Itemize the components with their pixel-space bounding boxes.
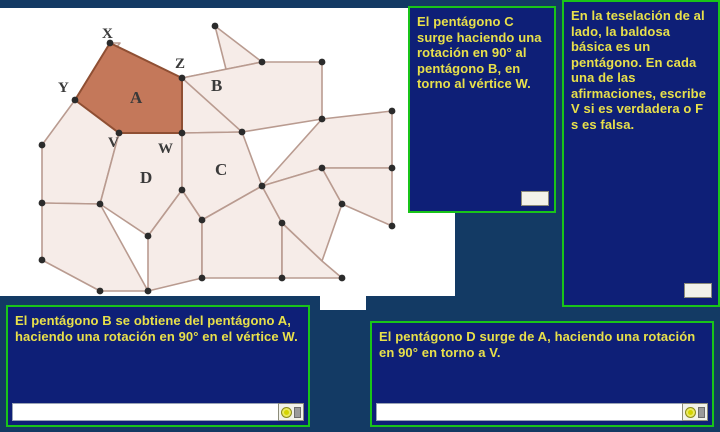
pentagon-tessellation-figure: A B C D X Y Z V W	[10, 8, 430, 298]
label-vertex-y: Y	[58, 80, 69, 97]
answer-input-b[interactable]	[12, 403, 278, 421]
intro-box: En la teselación de al lado, la baldosa …	[562, 0, 720, 307]
label-vertex-w: W	[158, 141, 173, 158]
lesson-screen: A B C D X Y Z V W El pentágono C surge h…	[0, 0, 720, 432]
bar-icon	[294, 407, 301, 418]
label-pentagon-d: D	[140, 168, 152, 188]
intro-text: En la teselación de al lado, la baldosa …	[571, 8, 711, 132]
label-pentagon-a: A	[130, 88, 142, 108]
statement-b-text: El pentágono B se obtiene del pentágono …	[15, 313, 301, 344]
label-vertex-v: V	[108, 135, 119, 152]
check-answer-button-d[interactable]	[682, 403, 708, 421]
white-notch	[320, 296, 366, 310]
statement-d-text: El pentágono D surge de A, haciendo una …	[379, 329, 705, 360]
statement-c-text: El pentágono C surge haciendo una rotaci…	[417, 14, 547, 92]
label-pentagon-b: B	[211, 76, 222, 96]
check-answer-button-intro[interactable]	[684, 283, 712, 298]
speaker-check-icon	[685, 407, 696, 418]
bottom-middle-background-panel	[318, 296, 368, 432]
speaker-check-icon	[281, 407, 292, 418]
answer-row-d	[376, 403, 708, 421]
label-vertex-x: X	[102, 26, 113, 43]
check-answer-button-c[interactable]	[521, 191, 549, 206]
statement-box-c: El pentágono C surge haciendo una rotaci…	[408, 6, 556, 213]
statement-box-d: El pentágono D surge de A, haciendo una …	[370, 321, 714, 427]
label-pentagon-c: C	[215, 160, 227, 180]
bar-icon	[698, 407, 705, 418]
label-vertex-z: Z	[175, 56, 185, 73]
statement-box-b: El pentágono B se obtiene del pentágono …	[6, 305, 310, 427]
answer-row-b	[12, 403, 304, 421]
answer-input-d[interactable]	[376, 403, 682, 421]
check-answer-button-b[interactable]	[278, 403, 304, 421]
